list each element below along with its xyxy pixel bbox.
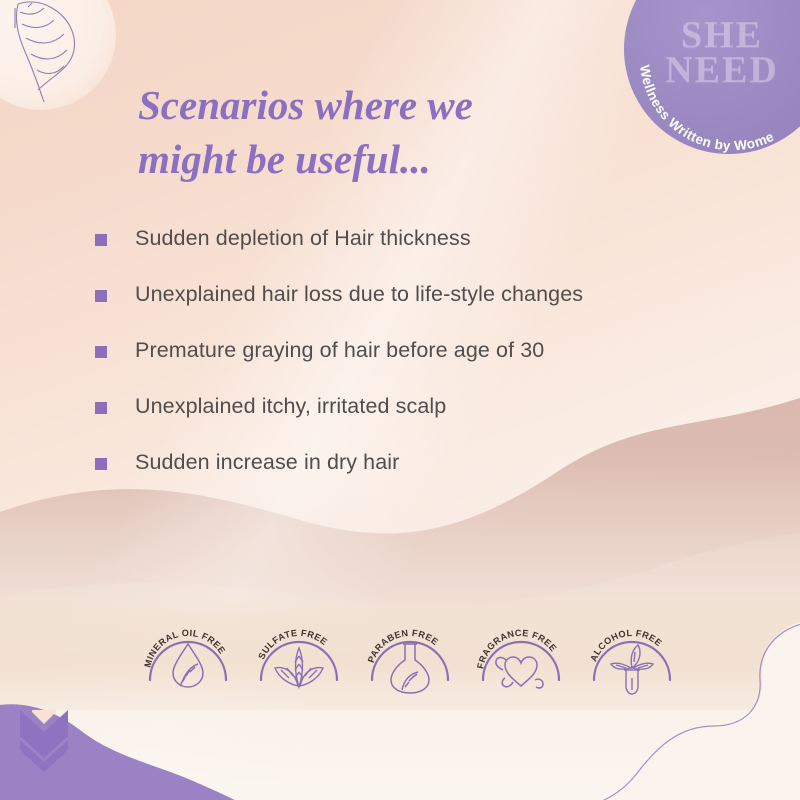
cream-blob-decoration	[510, 620, 800, 800]
poster-canvas: SHE NEED Wellness Written by Women Scena…	[0, 0, 800, 800]
svg-text:Wellness Written by Women: Wellness Written by Women	[624, 0, 776, 153]
certification-badge: PARABEN FREE	[362, 612, 458, 698]
bullet-square-icon	[95, 290, 107, 302]
list-item: Sudden depletion of Hair thickness	[95, 226, 735, 282]
svg-text:SULFATE FREE: SULFATE FREE	[256, 628, 329, 661]
chevron-m-logo-icon[interactable]	[18, 710, 70, 772]
page-title-line2: might be useful...	[138, 132, 608, 186]
bullet-square-icon	[95, 234, 107, 246]
certification-label: SULFATE FREE	[256, 628, 329, 661]
list-item-label: Sudden increase in dry hair	[135, 450, 399, 475]
page-title-line1: Scenarios where we	[138, 78, 608, 132]
symptom-list: Sudden depletion of Hair thickness Unexp…	[95, 226, 735, 506]
flask-leaf-icon: PARABEN FREE	[362, 612, 458, 698]
bullet-square-icon	[95, 458, 107, 470]
monstera-leaf-icon	[2, 0, 98, 108]
list-item-label: Unexplained itchy, irritated scalp	[135, 394, 446, 419]
bullet-square-icon	[95, 346, 107, 358]
list-item-label: Unexplained hair loss due to life-style …	[135, 282, 583, 307]
brand-tagline-arc: Wellness Written by Women	[624, 0, 800, 154]
list-item: Unexplained hair loss due to life-style …	[95, 282, 735, 338]
list-item: Unexplained itchy, irritated scalp	[95, 394, 735, 450]
list-item: Premature graying of hair before age of …	[95, 338, 735, 394]
list-item: Sudden increase in dry hair	[95, 450, 735, 506]
brand-tagline: Wellness Written by Women	[624, 0, 776, 153]
bullet-square-icon	[95, 402, 107, 414]
page-title: Scenarios where we might be useful...	[138, 78, 608, 186]
list-item-label: Sudden depletion of Hair thickness	[135, 226, 471, 251]
list-item-label: Premature graying of hair before age of …	[135, 338, 544, 363]
brand-badge: SHE NEED Wellness Written by Women	[624, 0, 800, 154]
